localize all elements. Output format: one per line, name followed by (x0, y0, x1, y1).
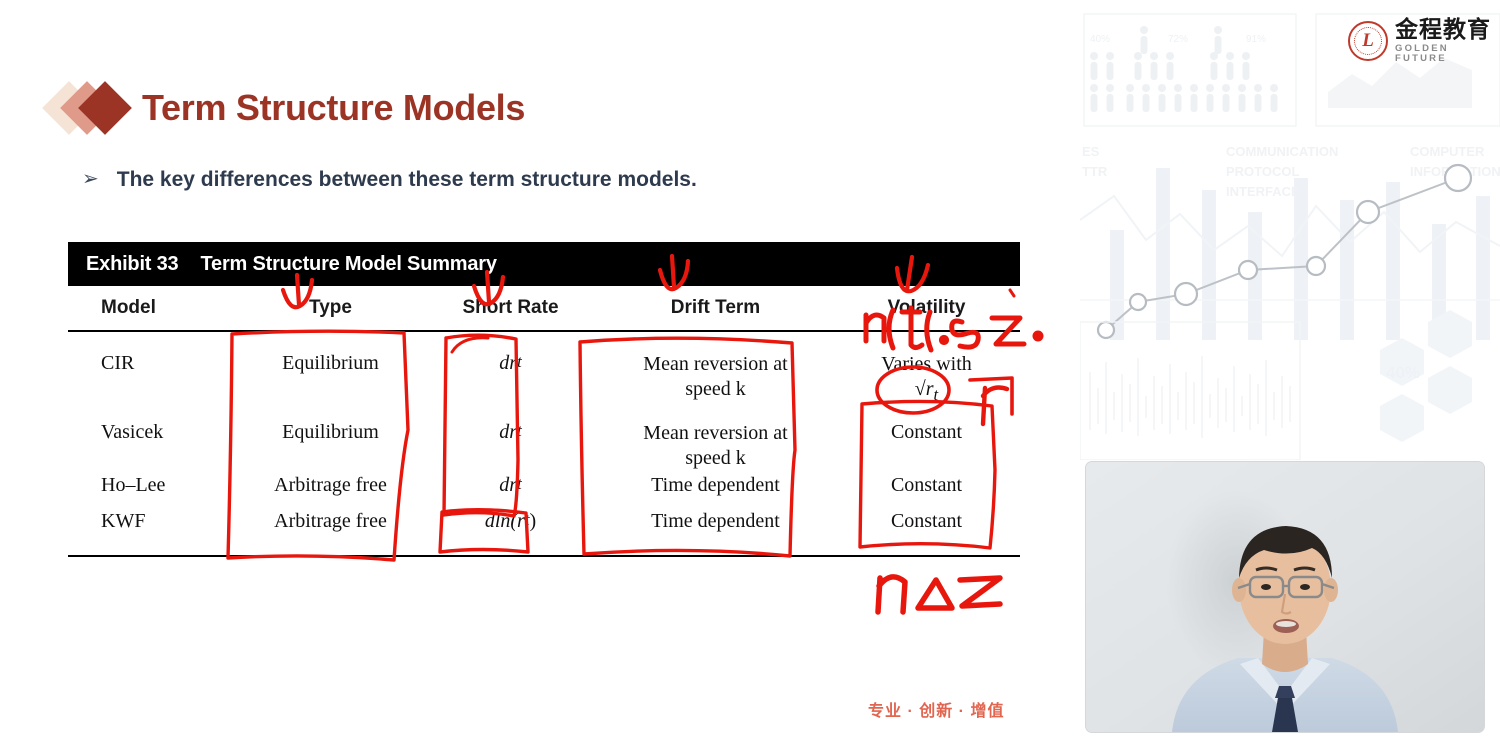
cell-short-rate: drt (423, 352, 598, 409)
drift-line-1: Mean reversion at (643, 352, 787, 377)
table-row: CIR Equilibrium drt Mean reversion at sp… (68, 332, 1020, 409)
cell-short-rate: drt (423, 421, 598, 471)
instructor-video-tile[interactable] (1086, 462, 1484, 732)
short-rate-tail: ) (529, 510, 536, 533)
slide-title-block: Term Structure Models (50, 80, 525, 136)
short-rate-subscript: t (517, 421, 522, 441)
column-header-type: Type (238, 297, 423, 319)
cell-drift-term: Time dependent (598, 510, 833, 551)
bullet-text: The key differences between these term s… (117, 168, 697, 192)
table-row: KWF Arbitrage free dln(rt) Time dependen… (68, 507, 1020, 551)
cell-drift-term: Mean reversion at speed k (598, 421, 833, 471)
cell-short-rate: dln(rt) (423, 510, 598, 551)
drift-line-1: Mean reversion at (643, 421, 787, 446)
seal-icon: L (1348, 21, 1388, 61)
background-infographic: 40% 72% 91% ES TTR COMMUNICATION PROTOCO… (1080, 0, 1500, 460)
svg-text:COMPUTER: COMPUTER (1410, 144, 1485, 159)
logo-name-cn-text: 金程教育 (1395, 16, 1491, 42)
svg-text:91%: 91% (1246, 34, 1266, 45)
exhibit-table: Exhibit 33 Term Structure Model Summary … (68, 242, 1020, 557)
svg-text:COMMUNICATION: COMMUNICATION (1226, 144, 1338, 159)
video-frame (1086, 462, 1484, 732)
bullet-row: ➢ The key differences between these term… (82, 168, 697, 192)
column-header-short-rate: Short Rate (423, 297, 598, 319)
exhibit-caption-bar: Exhibit 33 Term Structure Model Summary (68, 242, 1020, 286)
exhibit-label: Exhibit 33 (86, 253, 178, 276)
short-rate-symbol: dr (499, 352, 517, 375)
volatility-line-2: √r (915, 378, 934, 400)
logo-name-cn: 金程教育® (1395, 18, 1500, 41)
svg-text:40%: 40% (1090, 34, 1110, 45)
cell-drift-term: Mean reversion at speed k (598, 352, 833, 409)
cell-model: KWF (68, 510, 238, 551)
table-bottom-rule (68, 555, 1020, 557)
column-header-volatility: Volatility (833, 297, 1020, 319)
svg-text:TTR: TTR (1082, 164, 1108, 179)
drift-line-2: speed k (643, 377, 787, 402)
cell-volatility: Varies with √rt (833, 352, 1020, 409)
drift-line-2: speed k (643, 446, 787, 471)
cell-short-rate: drt (423, 474, 598, 507)
right-side-panel: 40% 72% 91% ES TTR COMMUNICATION PROTOCO… (1080, 0, 1500, 750)
svg-text:INTERFACE: INTERFACE (1226, 184, 1300, 199)
column-header-model: Model (68, 297, 238, 319)
footer-slogan: 专业 · 创新 · 增值 (868, 697, 1004, 721)
seal-glyph: L (1350, 30, 1386, 52)
cell-drift-term: Time dependent (598, 474, 833, 507)
cell-volatility: Constant (833, 510, 1020, 551)
slide-content-area: Term Structure Models ➢ The key differen… (0, 0, 1080, 750)
brand-logo: L 金程教育® GOLDEN FUTURE (1348, 18, 1500, 63)
short-rate-symbol: dr (499, 474, 517, 497)
svg-text:ES: ES (1082, 144, 1100, 159)
exhibit-caption: Term Structure Model Summary (200, 253, 496, 276)
svg-text:40%: 40% (1386, 363, 1420, 382)
cell-type: Arbitrage free (238, 510, 423, 551)
volatility-subscript: t (934, 385, 939, 404)
cell-model: Vasicek (68, 421, 238, 471)
short-rate-symbol: dln(r (485, 510, 525, 533)
cell-type: Equilibrium (238, 421, 423, 471)
page-title: Term Structure Models (142, 87, 525, 129)
short-rate-symbol: dr (499, 421, 517, 444)
short-rate-subscript: t (517, 352, 522, 372)
ink-formula-bottom (878, 577, 1000, 612)
table-row: Vasicek Equilibrium drt Mean reversion a… (68, 409, 1020, 471)
svg-text:PROTOCOL: PROTOCOL (1226, 164, 1299, 179)
cell-model: CIR (68, 352, 238, 409)
column-header-drift-term: Drift Term (598, 297, 833, 319)
cell-type: Arbitrage free (238, 474, 423, 507)
arrow-bullet-icon: ➢ (82, 169, 99, 189)
cell-volatility: Constant (833, 474, 1020, 507)
logo-name-en: GOLDEN FUTURE (1395, 44, 1500, 63)
table-row: Ho–Lee Arbitrage free drt Time dependent… (68, 471, 1020, 507)
table-header-row: Model Type Short Rate Drift Term Volatil… (68, 286, 1020, 332)
svg-text:72%: 72% (1168, 34, 1188, 45)
cell-model: Ho–Lee (68, 474, 238, 507)
diamond-logo-icon (50, 80, 128, 136)
cell-volatility: Constant (833, 421, 1020, 471)
cell-type: Equilibrium (238, 352, 423, 409)
volatility-line-1: Varies with (881, 352, 972, 377)
short-rate-subscript: t (517, 474, 522, 494)
